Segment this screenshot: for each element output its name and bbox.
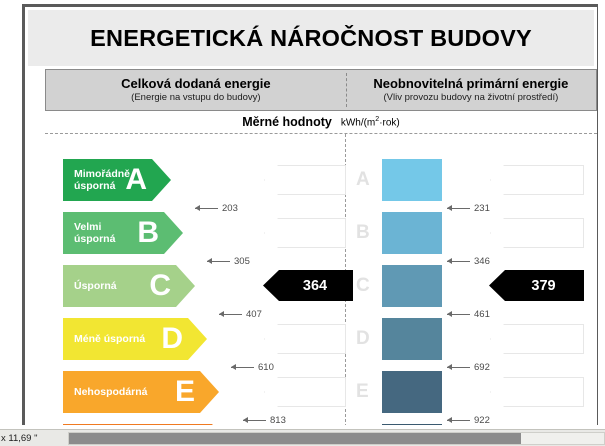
energy-class-letter: A [125, 165, 147, 195]
tick-value: 305 [234, 256, 250, 267]
scale-tick-delivered: 407 [219, 308, 262, 320]
primary-energy-bar-a [382, 159, 442, 201]
tick-leader-arrow-icon [447, 314, 470, 315]
screenshot-root: ENERGETICKÁ NÁROČNOST BUDOVY Celková dod… [0, 0, 605, 446]
panel-delivered-energy: Mimořádně úspornáAVelmi úspornáBÚspornáC… [45, 134, 345, 427]
energy-class-name: Úsporná [74, 280, 117, 292]
units-value-tail: ·rok) [379, 117, 400, 128]
units-value: kWh/(m2·rok) [341, 116, 400, 128]
status-dimension-text: x 11,69 " [0, 433, 37, 444]
panel-primary-energy: 231346461692922379 [346, 134, 597, 427]
column-header-primary-energy: Neobnovitelná primární energie (Vliv pro… [346, 70, 596, 110]
tick-leader-arrow-icon [447, 261, 470, 262]
result-slot-empty [490, 218, 584, 248]
energy-class-c: ÚspornáC [63, 265, 195, 307]
primary-energy-bar-d [382, 318, 442, 360]
chart-body: Mimořádně úspornáAVelmi úspornáBÚspornáC… [45, 134, 597, 427]
tick-value: 813 [270, 415, 286, 426]
result-slot-empty [264, 165, 346, 195]
energy-class-b: Velmi úspornáB [63, 212, 183, 254]
units-value-main: kWh/(m [341, 117, 375, 128]
energy-class-letter: E [175, 377, 195, 407]
column-title: Neobnovitelná primární energie [373, 76, 568, 91]
document-viewport: ENERGETICKÁ NÁROČNOST BUDOVY Celková dod… [8, 0, 598, 430]
result-indicator-primary: 379 [489, 270, 584, 301]
result-slot-empty [264, 324, 346, 354]
primary-energy-bar-e [382, 371, 442, 413]
horizontal-scrollbar[interactable] [68, 432, 605, 445]
result-slot-empty [490, 324, 584, 354]
scale-tick-delivered: 610 [231, 361, 274, 373]
tick-value: 346 [474, 256, 490, 267]
result-slot-empty [490, 377, 584, 407]
tick-value: 203 [222, 203, 238, 214]
column-subtitle: (Energie na vstupu do budovy) [131, 91, 260, 104]
tick-leader-arrow-icon [195, 208, 218, 209]
tick-value: 461 [474, 309, 490, 320]
scale-tick-delivered: 305 [207, 255, 250, 267]
status-bar: x 11,69 " [0, 429, 605, 446]
column-subtitle: (Vliv provozu budovy na životní prostřed… [383, 91, 558, 104]
energy-class-name: Mimořádně úsporná [74, 168, 130, 192]
tick-leader-arrow-icon [447, 367, 470, 368]
units-label: Měrné hodnoty [242, 115, 332, 129]
energy-class-e: NehospodárnáE [63, 371, 219, 413]
primary-energy-bar-c [382, 265, 442, 307]
tick-value: 231 [474, 203, 490, 214]
energy-class-letter: D [161, 324, 183, 354]
result-slot-empty [264, 218, 346, 248]
energy-class-letter: B [137, 218, 159, 248]
tick-leader-arrow-icon [207, 261, 230, 262]
result-slot-empty [490, 165, 584, 195]
tick-leader-arrow-icon [447, 420, 470, 421]
horizontal-scrollbar-thumb[interactable] [69, 433, 521, 444]
page-title: ENERGETICKÁ NÁROČNOST BUDOVY [90, 25, 532, 52]
primary-energy-bar-b [382, 212, 442, 254]
scale-tick-primary: 346 [447, 255, 490, 267]
energy-class-name: Méně úsporná [74, 333, 145, 345]
tick-value: 692 [474, 362, 490, 373]
tick-leader-arrow-icon [243, 420, 266, 421]
energy-class-name: Nehospodárná [74, 386, 148, 398]
column-title: Celková dodaná energie [121, 76, 271, 91]
tick-leader-arrow-icon [219, 314, 242, 315]
penb-certificate-page: ENERGETICKÁ NÁROČNOST BUDOVY Celková dod… [22, 4, 598, 430]
energy-class-letter: C [149, 271, 171, 301]
scale-tick-primary: 231 [447, 202, 490, 214]
tick-leader-arrow-icon [447, 208, 470, 209]
certificate-title-band: ENERGETICKÁ NÁROČNOST BUDOVY [28, 10, 594, 66]
scale-tick-primary: 461 [447, 308, 490, 320]
tick-leader-arrow-icon [231, 367, 254, 368]
result-indicator-delivered: 364 [263, 270, 353, 301]
scale-tick-delivered: 203 [195, 202, 238, 214]
result-value: 364 [289, 278, 327, 294]
energy-class-d: Méně úspornáD [63, 318, 207, 360]
column-header-delivered-energy: Celková dodaná energie (Energie na vstup… [46, 70, 346, 110]
result-slot-empty [264, 377, 346, 407]
result-value: 379 [517, 278, 555, 294]
tick-value: 610 [258, 362, 274, 373]
energy-class-a: Mimořádně úspornáA [63, 159, 171, 201]
tick-value: 407 [246, 309, 262, 320]
tick-value: 922 [474, 415, 490, 426]
column-header-row: Celková dodaná energie (Energie na vstup… [45, 69, 597, 111]
scale-tick-primary: 692 [447, 361, 490, 373]
units-row: Měrné hodnoty kWh/(m2·rok) [45, 112, 597, 132]
energy-class-name: Velmi úsporná [74, 221, 115, 245]
